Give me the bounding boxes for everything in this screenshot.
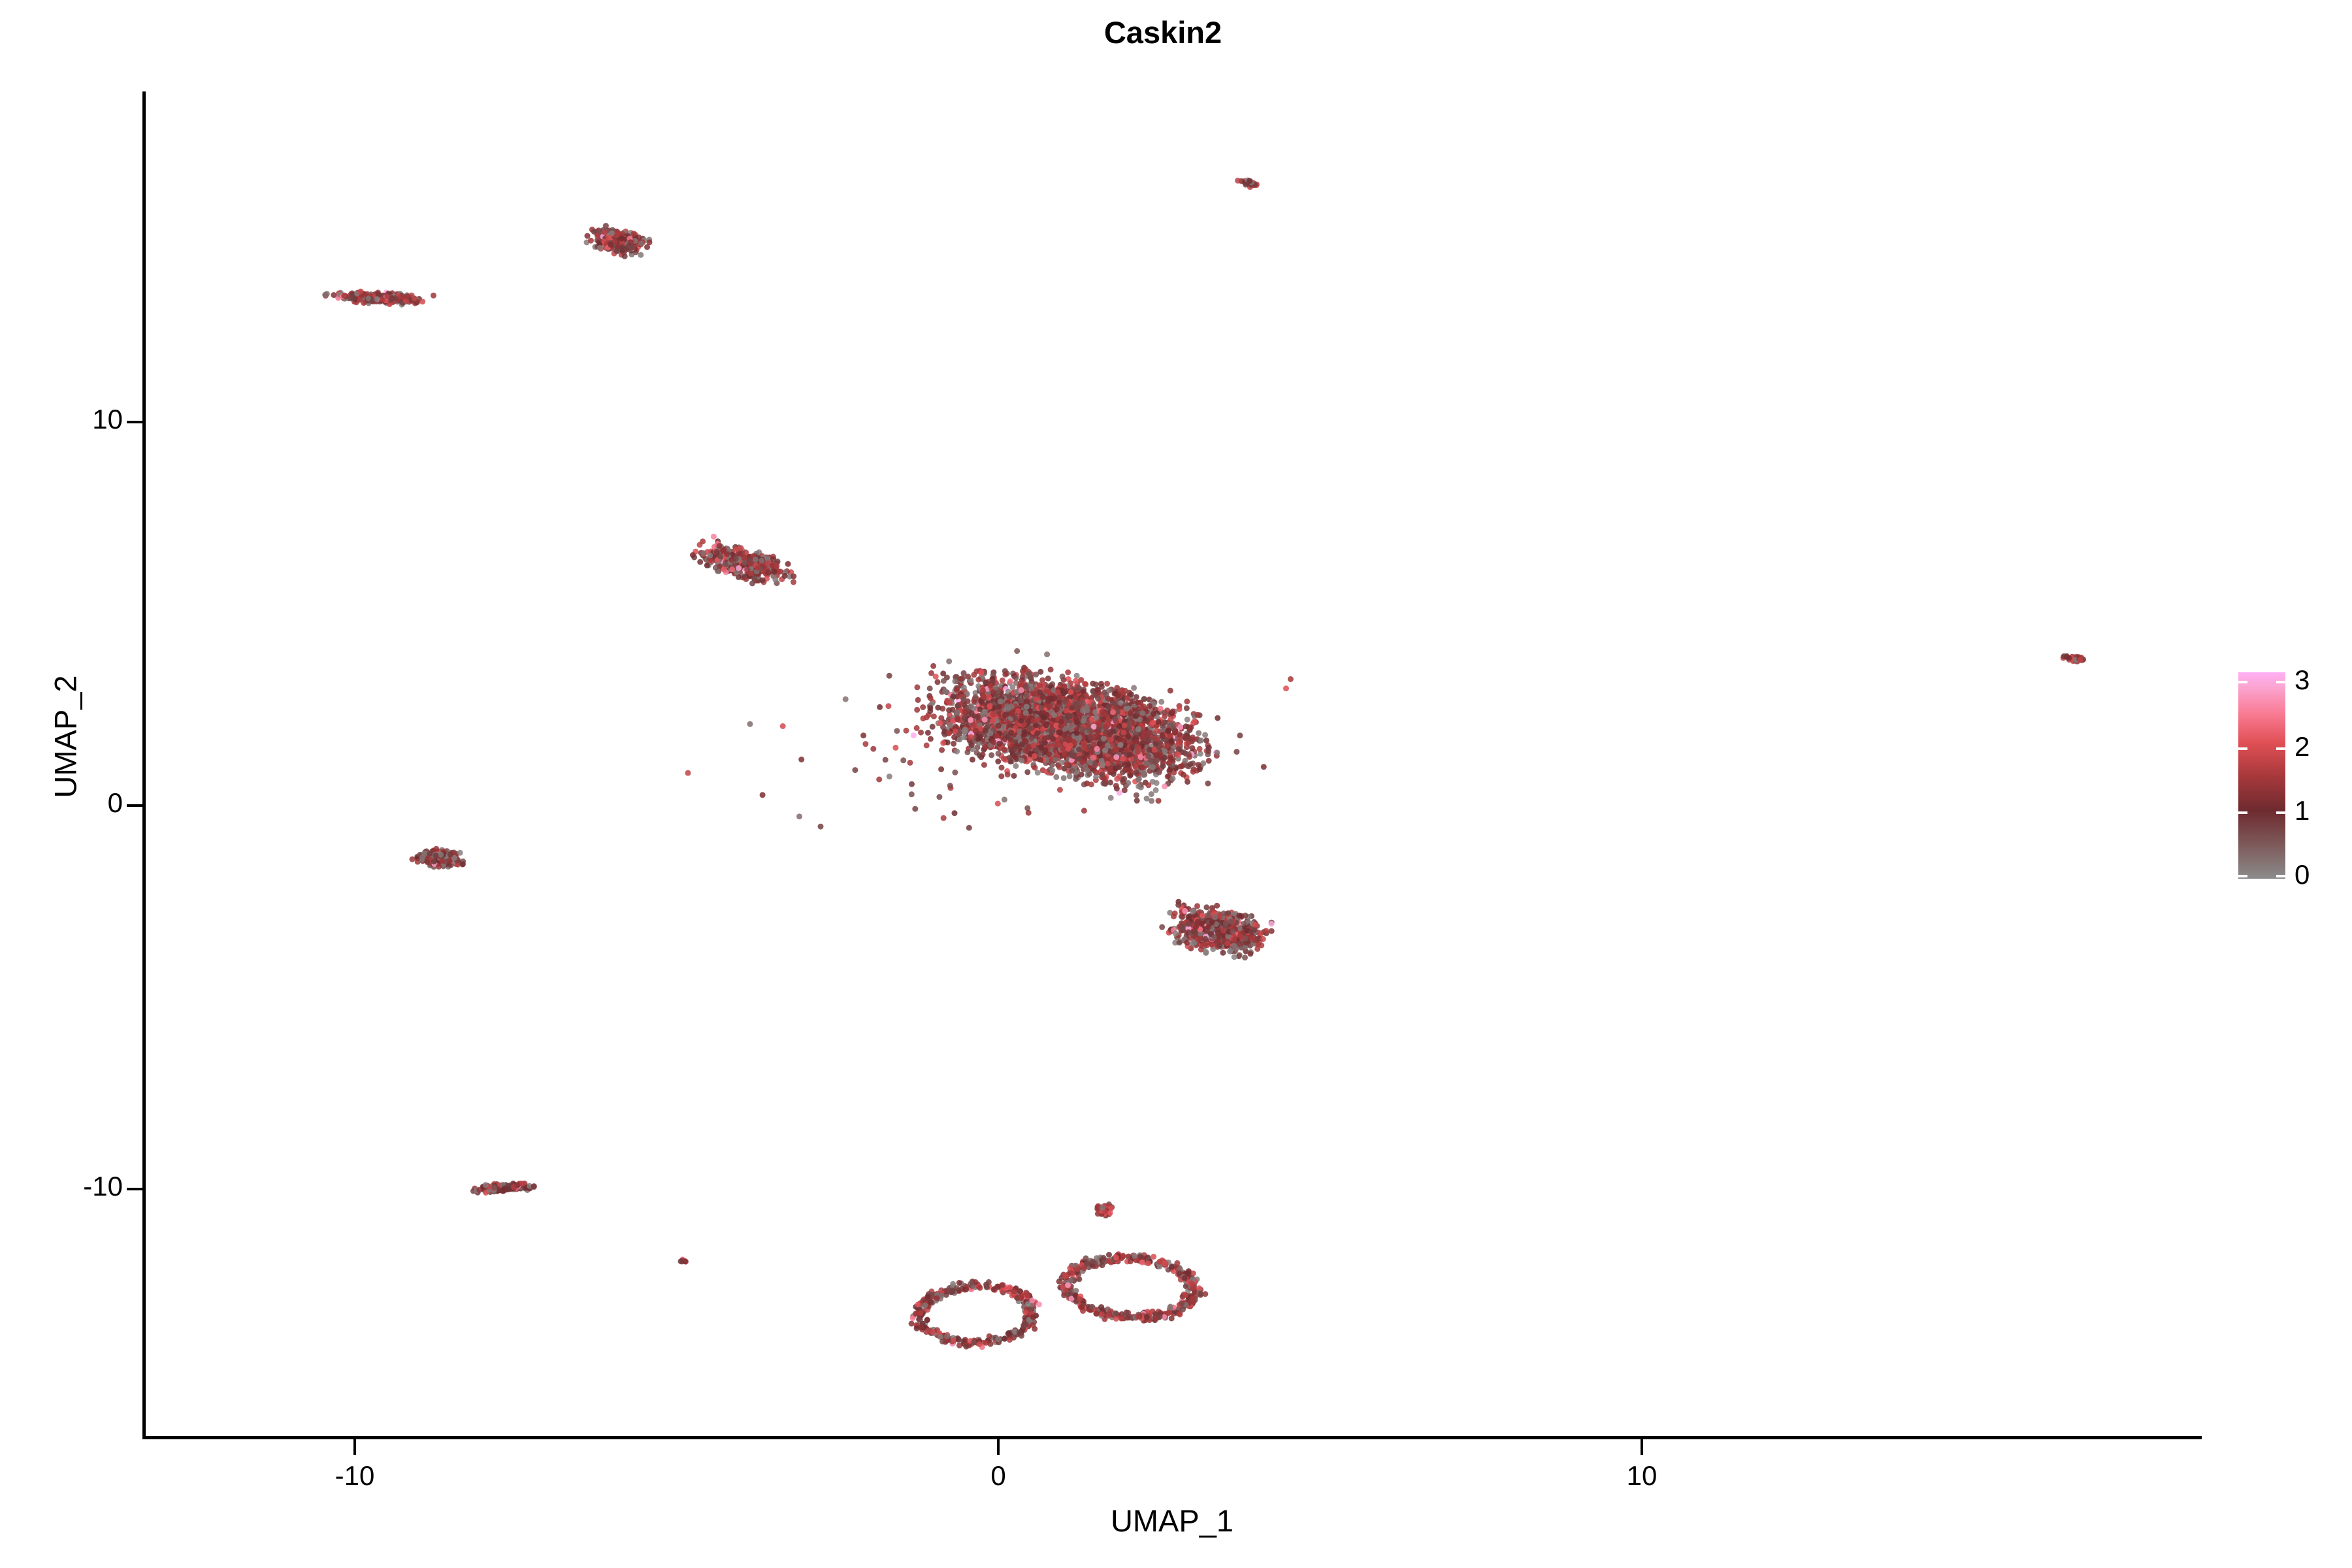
colorbar-tick-2-right xyxy=(2276,747,2285,750)
colorbar-tick-1-right xyxy=(2276,811,2285,814)
colorbar-label-2: 2 xyxy=(2295,731,2310,762)
colorbar-tick-3-left xyxy=(2238,681,2247,683)
x-tick-label-neg10: -10 xyxy=(335,1460,375,1492)
colorbar-tick-2-left xyxy=(2238,747,2247,750)
colorbar-tick-0-right xyxy=(2276,875,2285,877)
colorbar-tick-0-left xyxy=(2238,875,2247,877)
y-tick-label-neg10: -10 xyxy=(83,1171,123,1202)
y-axis-line xyxy=(142,91,146,1439)
colorbar-tick-1-left xyxy=(2238,811,2247,814)
colorbar-gradient xyxy=(2238,672,2285,879)
colorbar-label-3: 3 xyxy=(2295,664,2310,696)
y-tick-mark-10 xyxy=(127,421,142,423)
colorbar-label-0: 0 xyxy=(2295,859,2310,890)
y-tick-label-0: 0 xyxy=(108,787,123,819)
x-tick-label-0: 0 xyxy=(990,1460,1005,1492)
y-axis-title: UMAP_2 xyxy=(48,476,84,998)
y-tick-mark-0 xyxy=(127,804,142,807)
y-tick-mark-neg10 xyxy=(127,1188,142,1190)
scatter-points-layer xyxy=(144,91,2202,1437)
x-axis-title: UMAP_1 xyxy=(142,1503,2202,1539)
y-tick-label-10: 10 xyxy=(92,404,123,435)
x-tick-mark-neg10 xyxy=(353,1439,356,1455)
x-tick-mark-10 xyxy=(1641,1439,1643,1455)
x-axis-line xyxy=(142,1436,2202,1439)
colorbar-tick-3-right xyxy=(2276,681,2285,683)
plot-panel xyxy=(144,91,2202,1437)
page-title: Caskin2 xyxy=(0,14,2326,50)
colorbar-label-1: 1 xyxy=(2295,795,2310,826)
x-tick-mark-0 xyxy=(997,1439,1000,1455)
x-tick-label-10: 10 xyxy=(1627,1460,1658,1492)
umap-feature-plot: Caskin2 10 0 -10 -10 0 10 UMAP_1 UMAP_2 … xyxy=(0,0,2352,1568)
legend-colorbar: 3 2 1 0 xyxy=(2238,672,2343,881)
